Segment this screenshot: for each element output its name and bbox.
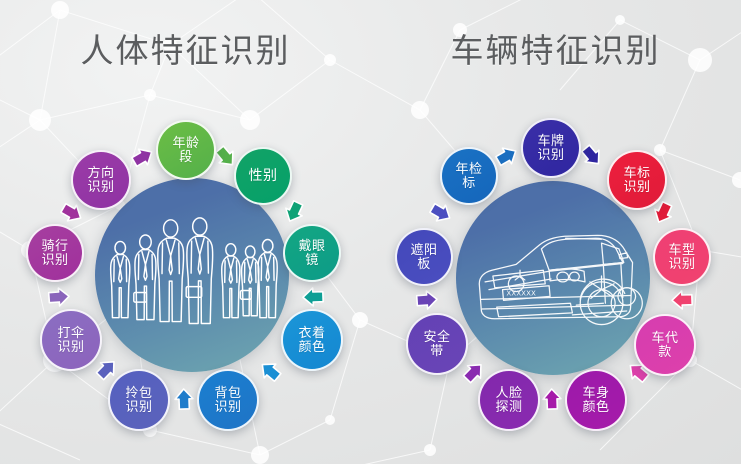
bubble-label: 骑行 识别 [41, 239, 68, 267]
bubble-face-detect[interactable]: 人脸 探测 [478, 369, 540, 431]
svg-text:XXXXXX: XXXXXX [506, 290, 536, 298]
arrow-belt-to-visor [415, 289, 438, 310]
bubble-car-logo[interactable]: 车标 识别 [607, 150, 667, 210]
arrow-glasses-to-clothing [302, 287, 325, 308]
bubble-label: 方向 识别 [87, 166, 114, 194]
arrow-umbrella-to-cycling [47, 286, 70, 307]
bubble-body-color[interactable]: 车身 颜色 [565, 369, 627, 431]
bubble-label: 车型 识别 [668, 243, 695, 271]
page-title-vehicle: 车辆特征识别 [370, 24, 741, 72]
bubble-handbag[interactable]: 拎包 识别 [108, 369, 170, 431]
bubble-backpack[interactable]: 背包 识别 [197, 369, 259, 431]
arrow-body-to-face [542, 388, 563, 411]
bubble-label: 戴眼 镜 [298, 239, 325, 267]
arrow-type-to-modelyear [671, 290, 694, 311]
bubble-cycling[interactable]: 骑行 识别 [26, 224, 84, 282]
bubble-label: 车代 款 [651, 331, 678, 359]
car-illustration: XXXXXX [456, 181, 650, 375]
bubble-gender[interactable]: 性别 [234, 147, 292, 205]
bubble-label: 背包 识别 [214, 386, 241, 414]
bubble-sun-visor[interactable]: 遮阳 板 [395, 228, 453, 286]
bubble-label: 年龄 段 [172, 136, 199, 164]
bubble-label: 拎包 识别 [125, 386, 152, 414]
bubble-umbrella[interactable]: 打伞 识别 [40, 309, 102, 371]
bubble-label: 打伞 识别 [57, 326, 84, 354]
bubble-label: 年检 标 [455, 162, 482, 190]
infographic-stage: 人体特征识别 车辆特征识别 年龄 段性别戴眼 镜衣着 颜色背包 识别拎包 识别打… [0, 0, 741, 464]
bubble-label: 车牌 识别 [537, 134, 564, 162]
page-title-human: 人体特征识别 [0, 24, 371, 72]
bubble-label: 车标 识别 [623, 166, 650, 194]
people-illustration [95, 178, 289, 372]
bubble-vehicle-type[interactable]: 车型 识别 [653, 228, 711, 286]
bubble-wear-glasses[interactable]: 戴眼 镜 [283, 224, 341, 282]
bubble-label: 安全 带 [423, 330, 450, 358]
bubble-label: 衣着 颜色 [298, 326, 325, 354]
bubble-seat-belt[interactable]: 安全 带 [406, 313, 468, 375]
bubble-label: 遮阳 板 [410, 243, 437, 271]
bubble-model-year[interactable]: 车代 款 [634, 314, 696, 376]
arrow-backpack-to-handbag [174, 388, 195, 411]
bubble-direction[interactable]: 方向 识别 [71, 150, 131, 210]
bubble-license-plate[interactable]: 车牌 识别 [521, 118, 581, 178]
bubble-clothing-color[interactable]: 衣着 颜色 [281, 309, 343, 371]
bubble-label: 性别 [249, 168, 278, 183]
bubble-age-range[interactable]: 年龄 段 [156, 120, 216, 180]
bubble-label: 车身 颜色 [582, 386, 609, 414]
bubble-label: 人脸 探测 [495, 386, 522, 414]
bubble-annual-check[interactable]: 年检 标 [440, 147, 498, 205]
